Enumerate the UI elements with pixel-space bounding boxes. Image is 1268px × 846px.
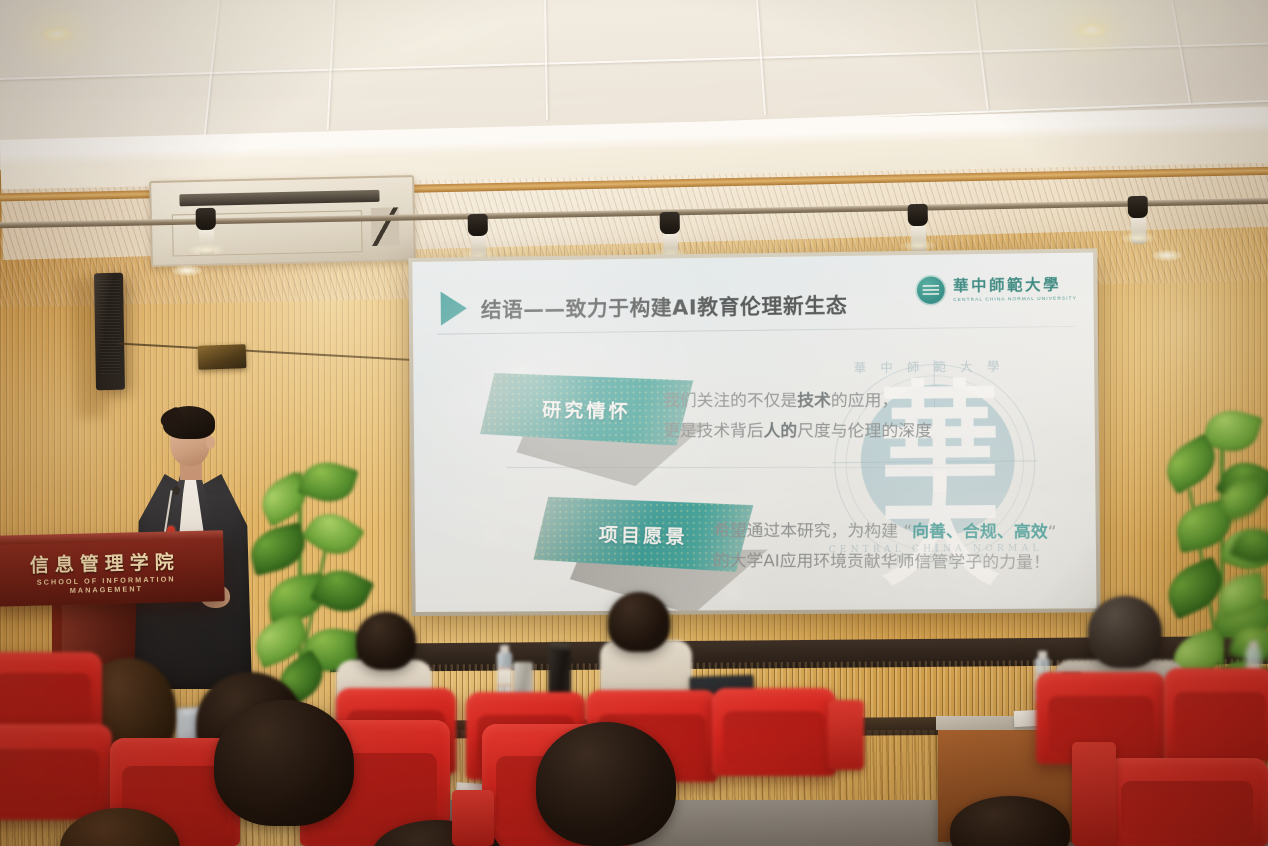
section-text-vision: 希望通过本研究，为构建 “向善、合规、高效“ 的大学AI应用环境贡献华师信管学子…	[713, 516, 1057, 578]
ceiling-wash-light	[1152, 250, 1182, 261]
line-part: 尺度与伦理的深度	[797, 421, 932, 440]
track-spotlight	[908, 204, 929, 252]
bottle-label	[497, 668, 512, 686]
attendee-head	[214, 700, 354, 826]
bottle-cap	[1038, 651, 1047, 659]
line-part-accent: 人的	[764, 421, 798, 440]
line-part-accent: 向善、合规、高效	[912, 522, 1048, 542]
seat-armrest	[1072, 742, 1116, 846]
title-arrow-icon	[441, 291, 467, 325]
banner-label: 研究情怀	[542, 395, 631, 424]
section-line: 的大学AI应用环境贡献华师信管学子的力量！	[713, 546, 1057, 578]
seat-armrest	[828, 700, 864, 770]
recessed-downlight	[40, 26, 74, 42]
bottle-cap	[1249, 641, 1258, 649]
lectern: 信息管理学院 SCHOOL OF INFORMATION MANAGEMENT	[0, 537, 225, 607]
thermos-lid	[549, 643, 570, 651]
ac-side-louver	[371, 207, 400, 246]
line-part: 希望通过本研究，为构建 “	[713, 521, 912, 541]
attendee-head	[536, 722, 676, 846]
auditorium-seat[interactable]	[0, 652, 102, 734]
line-part: 更是技术背后	[663, 421, 763, 440]
lectern-name-en: SCHOOL OF INFORMATION MANAGEMENT	[8, 574, 204, 597]
auditorium-seat[interactable]	[1164, 668, 1268, 762]
line-part: “	[1048, 522, 1057, 541]
slide-title: 结语——致力于构建AI教育伦理新生态	[481, 288, 848, 323]
university-logo: 華中師範大學 CENTRAL CHINA NORMAL UNIVERSITY	[915, 273, 1077, 306]
line-part: 我们关注的不仅是	[663, 391, 797, 410]
section-text-research: 我们关注的不仅是技术的应用， 更是技术背后人的尺度与伦理的深度	[663, 386, 932, 447]
wall-socket-box	[198, 344, 247, 370]
lecture-hall-photo: 華大 華中師範大學 CENTRAL CHINA NORMAL UNIVERSIT…	[0, 0, 1268, 846]
ac-vent-grille	[179, 190, 379, 207]
line-part: 的应用，	[831, 391, 898, 410]
section-line: 我们关注的不仅是技术的应用，	[663, 386, 932, 416]
bottle-cap	[500, 645, 509, 653]
line-part-accent: 技术	[797, 391, 831, 410]
seat-armrest	[452, 790, 494, 846]
auditorium-seat[interactable]	[712, 688, 836, 776]
university-seal-icon	[915, 275, 946, 306]
track-spotlight	[196, 208, 217, 256]
projection-screen[interactable]: 華大 華中師範大學 CENTRAL CHINA NORMAL UNIVERSIT…	[412, 253, 1096, 612]
track-spotlight	[1128, 196, 1149, 244]
section-line: 希望通过本研究，为构建 “向善、合规、高效“	[713, 516, 1057, 548]
section-line: 更是技术背后人的尺度与伦理的深度	[663, 416, 932, 446]
line-part: 的大学AI应用环境贡献华师信管学子的力量！	[713, 551, 1050, 572]
recessed-downlight	[1075, 22, 1109, 38]
auditorium-seat[interactable]	[0, 724, 112, 820]
ceiling-wash-light	[172, 265, 202, 276]
presenter-ear	[206, 436, 215, 449]
section-divider	[506, 467, 1000, 468]
track-spotlight	[660, 212, 681, 260]
banner-shape: 研究情怀	[479, 371, 693, 448]
wall-speaker	[94, 273, 125, 390]
auditorium-seat[interactable]	[1106, 758, 1268, 846]
university-name-cn: 華中師範大學	[953, 277, 1077, 294]
university-name-en: CENTRAL CHINA NORMAL UNIVERSITY	[953, 295, 1077, 302]
watermark-ring-top: 華中師範大學	[823, 357, 1045, 377]
projection-screen-frame: 華大 華中師範大學 CENTRAL CHINA NORMAL UNIVERSIT…	[408, 248, 1100, 616]
track-spotlight	[468, 214, 489, 262]
microphone-head	[173, 486, 180, 495]
banner-label: 项目愿景	[598, 520, 688, 550]
